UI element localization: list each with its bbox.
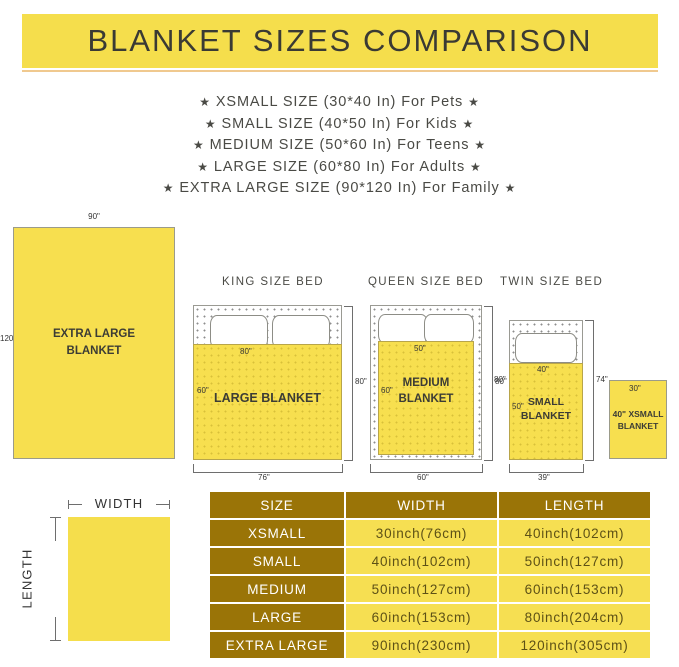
small-blanket-name-2: BLANKET bbox=[509, 409, 583, 423]
length-label: LENGTH bbox=[20, 539, 35, 619]
twin-bed-left-dimension: 80" bbox=[494, 375, 506, 384]
star-icon: ★ bbox=[193, 138, 205, 152]
queen-pillow-left bbox=[378, 314, 428, 344]
table-row: MEDIUM 50inch(127cm) 60inch(153cm) bbox=[210, 576, 650, 602]
cell-length: 50inch(127cm) bbox=[499, 548, 650, 574]
cell-size: MEDIUM bbox=[210, 576, 344, 602]
table-header-row: SIZE WIDTH LENGTH bbox=[210, 492, 650, 518]
twin-height-dim-line bbox=[593, 320, 594, 460]
table-row: XSMALL 30inch(76cm) 40inch(102cm) bbox=[210, 520, 650, 546]
queen-blanket-top-dimension: 50" bbox=[414, 344, 426, 353]
page-title: BLANKET SIZES COMPARISON bbox=[87, 23, 592, 59]
queen-width-dimension: 60" bbox=[417, 473, 429, 482]
width-label: WIDTH bbox=[68, 496, 170, 511]
extra-large-blanket-name-2: BLANKET bbox=[14, 343, 174, 360]
extra-large-top-dimension: 90" bbox=[13, 212, 175, 221]
width-dim-tick-left bbox=[68, 500, 69, 509]
cell-width: 40inch(102cm) bbox=[346, 548, 497, 574]
twin-width-dimension: 39" bbox=[538, 473, 550, 482]
width-length-diagram: WIDTH LENGTH bbox=[0, 490, 205, 667]
size-summary-list: ★ XSMALL SIZE (30*40 In) For Pets ★ ★ SM… bbox=[0, 92, 679, 200]
list-item: ★ EXTRA LARGE SIZE (90*120 In) For Famil… bbox=[0, 178, 679, 200]
star-icon: ★ bbox=[468, 95, 480, 109]
length-dim-tick-top bbox=[50, 517, 61, 518]
table-row: LARGE 60inch(153cm) 80inch(204cm) bbox=[210, 604, 650, 630]
star-icon: ★ bbox=[197, 160, 209, 174]
queen-height-dim-line bbox=[492, 306, 493, 460]
cell-width: 30inch(76cm) bbox=[346, 520, 497, 546]
star-icon: ★ bbox=[205, 117, 217, 131]
twin-pillow bbox=[515, 333, 577, 363]
cell-width: 90inch(230cm) bbox=[346, 632, 497, 658]
list-item-label: SMALL SIZE (40*50 In) For Kids bbox=[222, 116, 458, 132]
cell-size: EXTRA LARGE bbox=[210, 632, 344, 658]
list-item: ★ SMALL SIZE (40*50 In) For Kids ★ bbox=[0, 114, 679, 136]
queen-width-dim-tick-right bbox=[482, 464, 483, 473]
list-item-label: LARGE SIZE (60*80 In) For Adults bbox=[214, 159, 465, 175]
xsmall-blanket-label: 40" XSMALL BLANKET bbox=[609, 408, 667, 432]
cell-width: 60inch(153cm) bbox=[346, 604, 497, 630]
twin-height-dim-tick-bottom bbox=[585, 460, 594, 461]
width-dim-line-left bbox=[68, 504, 82, 505]
list-item-label: EXTRA LARGE SIZE (90*120 In) For Family bbox=[179, 180, 499, 196]
queen-height-dim-tick-bottom bbox=[484, 460, 493, 461]
twin-height-dim-tick-top bbox=[585, 320, 594, 321]
queen-pillow-right bbox=[424, 314, 474, 344]
size-chart-table: SIZE WIDTH LENGTH XSMALL 30inch(76cm) 40… bbox=[208, 490, 652, 660]
cell-size: SMALL bbox=[210, 548, 344, 574]
cell-width: 50inch(127cm) bbox=[346, 576, 497, 602]
king-width-dim-tick-right bbox=[342, 464, 343, 473]
cell-length: 120inch(305cm) bbox=[499, 632, 650, 658]
queen-bed-title: QUEEN SIZE BED bbox=[367, 276, 485, 288]
twin-width-dim-tick-left bbox=[509, 464, 510, 473]
queen-height-dim-tick-top bbox=[484, 306, 493, 307]
list-item-label: XSMALL SIZE (30*40 In) For Pets bbox=[216, 94, 463, 110]
extra-large-blanket-name: EXTRA LARGE bbox=[14, 326, 174, 343]
extra-large-blanket-shape: EXTRA LARGE BLANKET bbox=[13, 227, 175, 459]
cell-length: 60inch(153cm) bbox=[499, 576, 650, 602]
queen-width-dim-tick-left bbox=[370, 464, 371, 473]
king-blanket-left-dimension: 60" bbox=[197, 386, 209, 395]
column-header-length: LENGTH bbox=[499, 492, 650, 518]
cell-size: XSMALL bbox=[210, 520, 344, 546]
star-icon: ★ bbox=[199, 95, 211, 109]
blanket-comparison-diagram: 90" 120" EXTRA LARGE BLANKET KING SIZE B… bbox=[0, 210, 679, 485]
cell-size: LARGE bbox=[210, 604, 344, 630]
star-icon: ★ bbox=[462, 117, 474, 131]
star-icon: ★ bbox=[470, 160, 482, 174]
list-item: ★ LARGE SIZE (60*80 In) For Adults ★ bbox=[0, 157, 679, 179]
xsmall-blanket-name-2: BLANKET bbox=[609, 420, 667, 432]
length-dim-tick-bottom bbox=[50, 640, 61, 641]
king-height-dim-line bbox=[352, 306, 353, 460]
king-bed-title: KING SIZE BED bbox=[198, 276, 348, 288]
twin-height-dimension: 74" bbox=[596, 375, 608, 384]
cell-length: 40inch(102cm) bbox=[499, 520, 650, 546]
extra-large-blanket-label: EXTRA LARGE BLANKET bbox=[14, 326, 174, 360]
king-height-dim-tick-top bbox=[344, 306, 353, 307]
table-row: EXTRA LARGE 90inch(230cm) 120inch(305cm) bbox=[210, 632, 650, 658]
list-item: ★ MEDIUM SIZE (50*60 In) For Teens ★ bbox=[0, 135, 679, 157]
header-banner: BLANKET SIZES COMPARISON bbox=[22, 14, 658, 68]
large-blanket-label: LARGE BLANKET bbox=[193, 391, 342, 405]
list-item: ★ XSMALL SIZE (30*40 In) For Pets ★ bbox=[0, 92, 679, 114]
width-dim-tick-right bbox=[169, 500, 170, 509]
table-row: SMALL 40inch(102cm) 50inch(127cm) bbox=[210, 548, 650, 574]
king-height-dimension: 80" bbox=[355, 377, 367, 386]
blanket-shape bbox=[68, 517, 170, 641]
king-width-dimension: 76" bbox=[258, 473, 270, 482]
header-divider bbox=[22, 70, 658, 72]
star-icon: ★ bbox=[474, 138, 486, 152]
twin-blanket-top-dimension: 40" bbox=[537, 365, 549, 374]
king-width-dim-tick-left bbox=[193, 464, 194, 473]
twin-width-dim-tick-right bbox=[583, 464, 584, 473]
column-header-width: WIDTH bbox=[346, 492, 497, 518]
length-dim-line-top bbox=[55, 517, 56, 541]
star-icon: ★ bbox=[505, 181, 517, 195]
queen-blanket-left-dimension: 60" bbox=[381, 386, 393, 395]
star-icon: ★ bbox=[163, 181, 175, 195]
xsmall-top-dimension: 30" bbox=[629, 384, 641, 393]
list-item-label: MEDIUM SIZE (50*60 In) For Teens bbox=[210, 137, 470, 153]
xsmall-blanket-name: 40" XSMALL bbox=[609, 408, 667, 420]
king-blanket-top-dimension: 80" bbox=[240, 347, 252, 356]
width-dim-line-right bbox=[156, 504, 170, 505]
twin-blanket-left-dimension: 50" bbox=[512, 402, 524, 411]
cell-length: 80inch(204cm) bbox=[499, 604, 650, 630]
column-header-size: SIZE bbox=[210, 492, 344, 518]
length-dim-line-bottom bbox=[55, 617, 56, 641]
king-height-dim-tick-bottom bbox=[344, 460, 353, 461]
twin-bed-title: TWIN SIZE BED bbox=[500, 276, 600, 288]
